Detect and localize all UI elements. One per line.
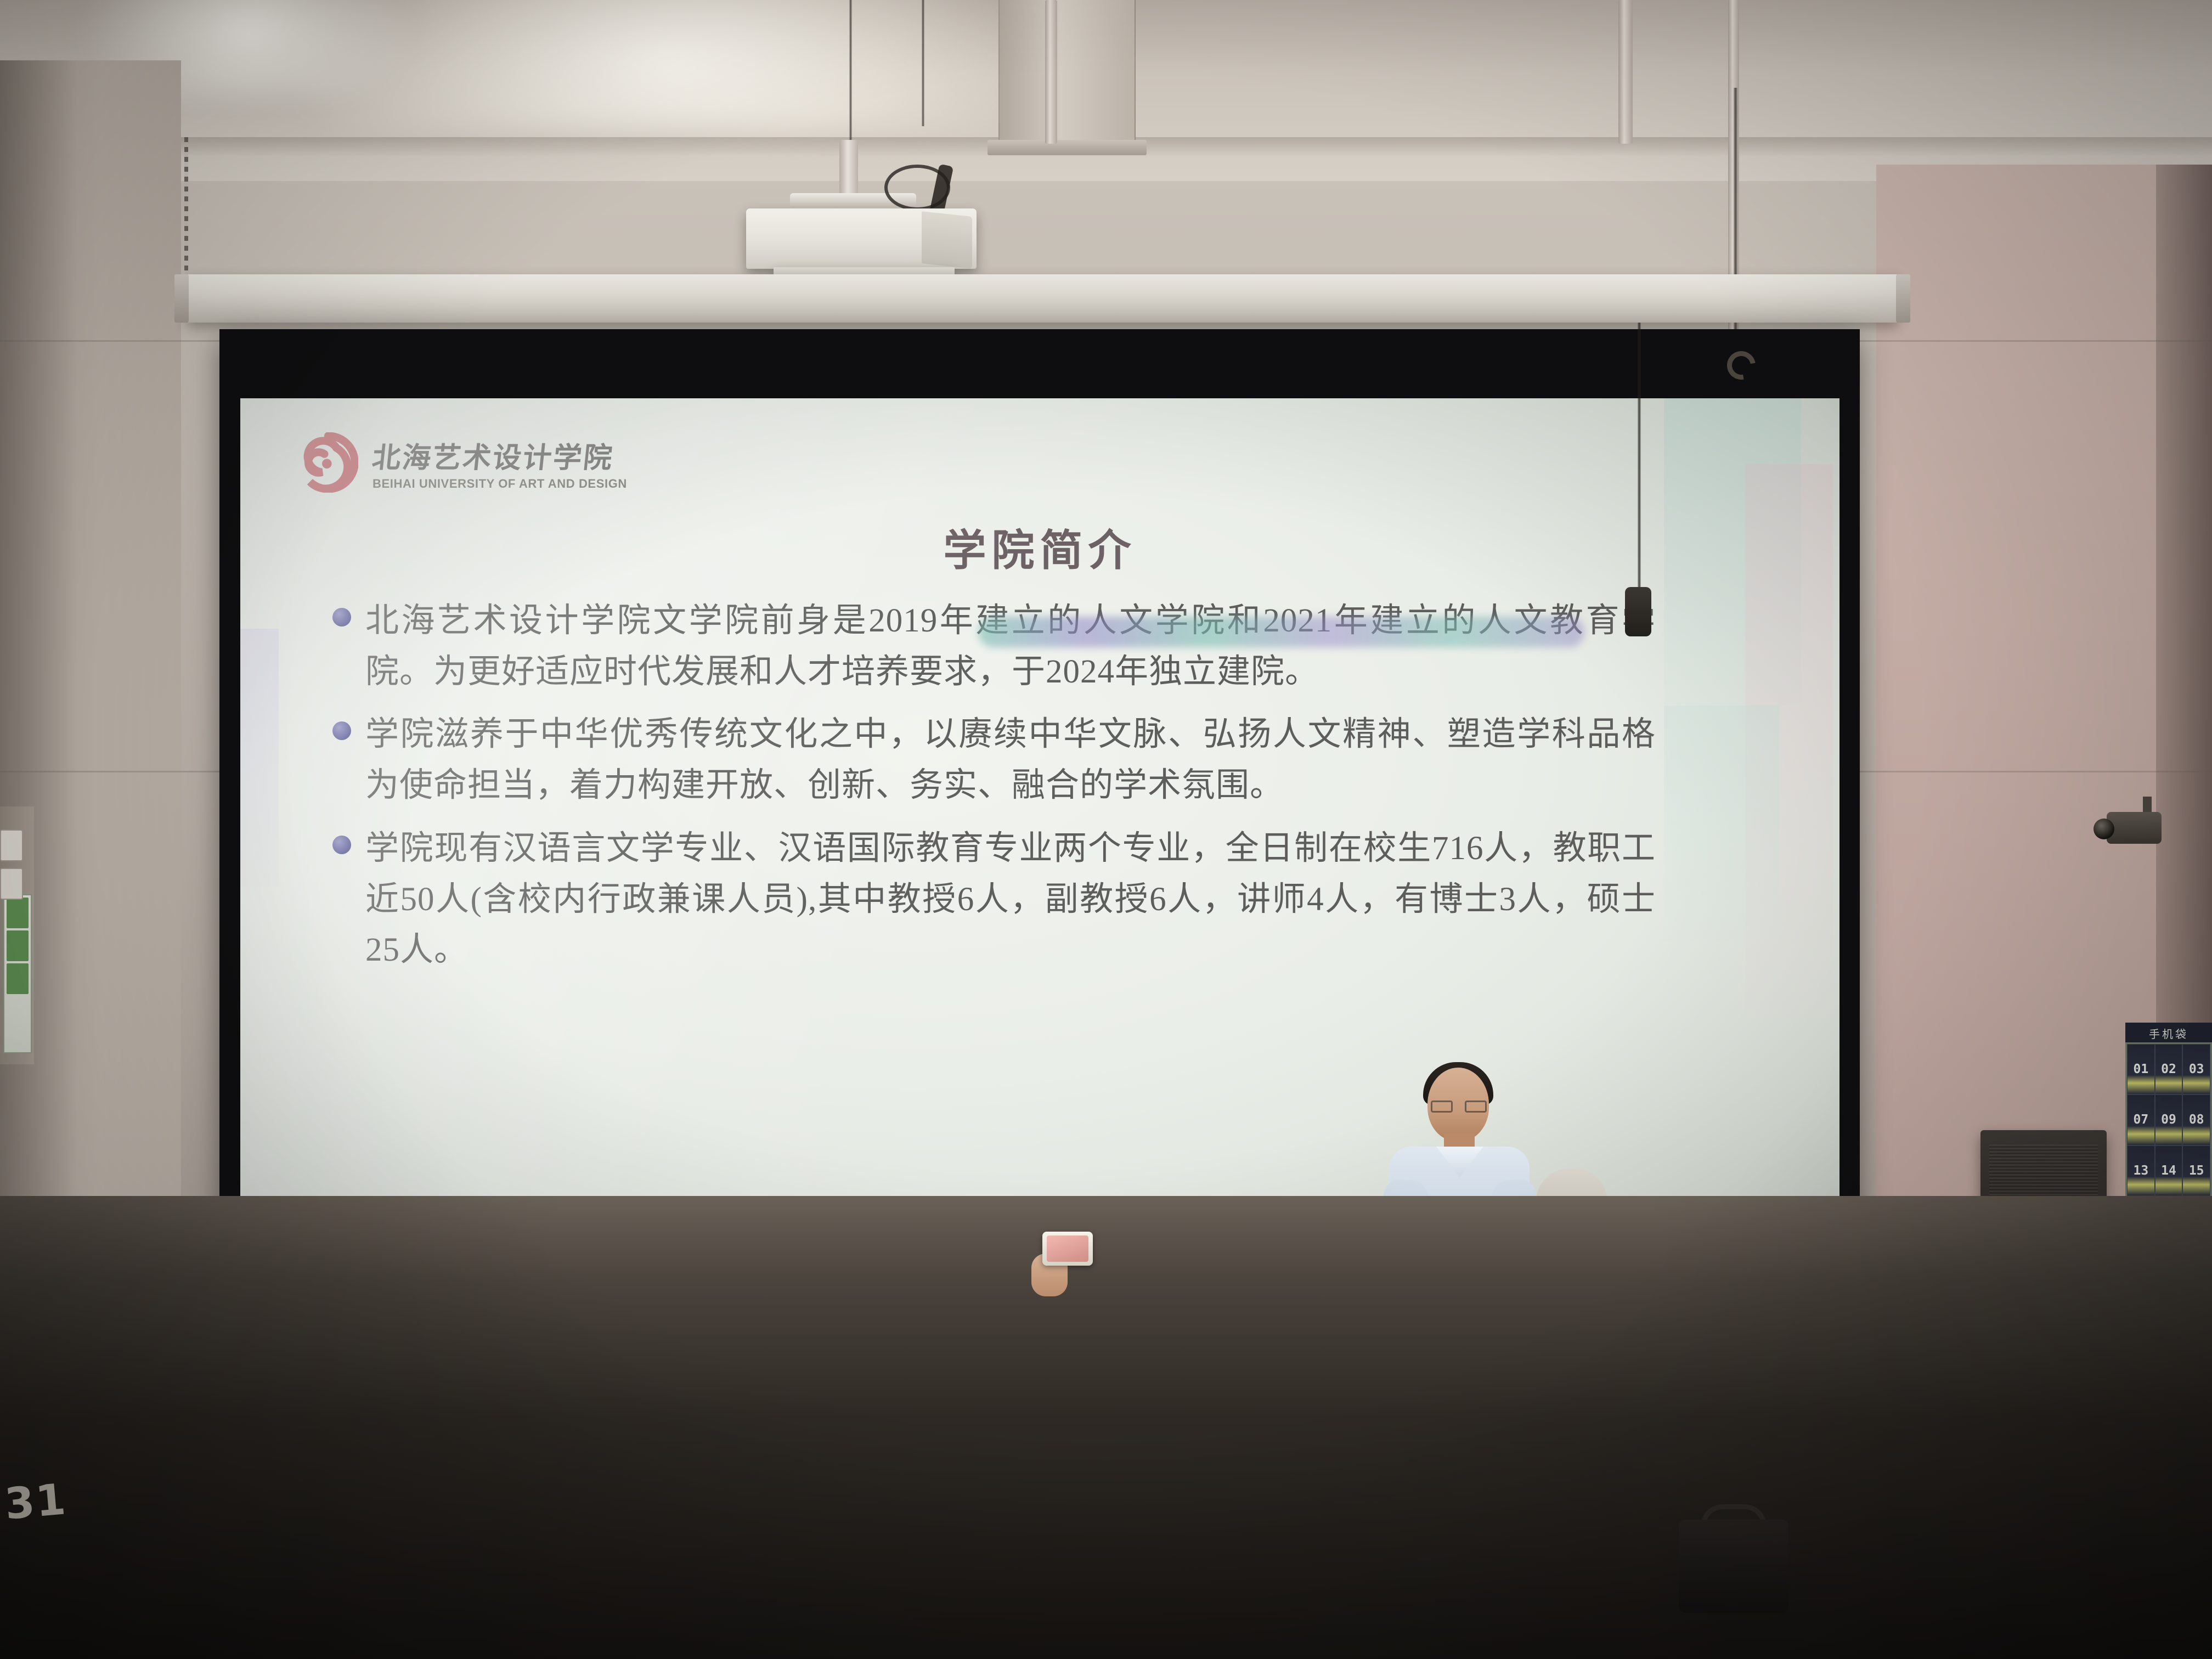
wall-socket[interactable] xyxy=(0,830,23,861)
wall-seam xyxy=(0,771,219,772)
phone-pocket-13[interactable]: 13 xyxy=(2127,1145,2155,1196)
phone-pocket-header: 手机袋 xyxy=(2125,1023,2212,1043)
phone-pocket-03[interactable]: 03 xyxy=(2182,1044,2210,1094)
logo-name-en: BEIHAI UNIVERSITY OF ART AND DESIGN xyxy=(373,477,627,491)
bullet-text: 北海艺术设计学院文学院前身是2019年建立的人文学院和2021年建立的人文教育学… xyxy=(365,596,1656,697)
presenter-glasses-icon xyxy=(1431,1101,1487,1113)
left-wall-shadow xyxy=(0,60,77,1256)
phone-pocket-09[interactable]: 09 xyxy=(2155,1094,2183,1145)
projector-power-cord xyxy=(849,0,852,143)
phone-pocket-14[interactable]: 14 xyxy=(2155,1145,2183,1196)
left-wall-notice-board xyxy=(3,894,32,1053)
ceiling-pipe xyxy=(1618,0,1633,144)
audience-phone-screen xyxy=(1047,1235,1088,1262)
screen-pull-handle xyxy=(1625,587,1651,636)
phone-pocket-07[interactable]: 07 xyxy=(2127,1094,2155,1145)
bullet-text: 学院现有汉语言文学专业、汉语国际教育专业两个专业，全日制在校生716人，教职工近… xyxy=(365,823,1656,976)
slide-bullet-list: 北海艺术设计学院文学院前身是2019年建立的人文学院和2021年建立的人文教育学… xyxy=(323,596,1656,988)
ceiling-pipe xyxy=(1045,0,1057,144)
phone-pocket-15[interactable]: 15 xyxy=(2182,1145,2210,1196)
slide-bullet-item: 北海艺术设计学院文学院前身是2019年建立的人文学院和2021年建立的人文教育学… xyxy=(323,596,1656,697)
wall-seam xyxy=(1860,771,2212,772)
slide: 北海艺术设计学院 BEIHAI UNIVERSITY OF ART AND DE… xyxy=(240,398,1839,1265)
screen-housing-end-left xyxy=(174,274,189,323)
projector-vent xyxy=(922,211,972,269)
bullet-dot-icon xyxy=(332,608,351,627)
screen-housing-end-right xyxy=(1896,274,1910,323)
lecture-hall-photo: EPSON 北海艺术设计学院 BEIHAI UNIVERSITY OF ART … xyxy=(0,0,2212,1659)
jersey-number-text: 31 xyxy=(3,1471,107,1545)
slide-title: 学院简介 xyxy=(240,516,1839,578)
bullet-text: 学院滋养于中华优秀传统文化之中，以赓续中华文脉、弘扬人文精神、塑造学科品格为使命… xyxy=(365,709,1656,811)
backpack-on-floor xyxy=(1679,1520,1788,1613)
wall-seam xyxy=(0,340,219,342)
projection-screen-surface: 北海艺术设计学院 BEIHAI UNIVERSITY OF ART AND DE… xyxy=(240,398,1839,1265)
phone-pocket-01[interactable]: 01 xyxy=(2127,1044,2155,1094)
security-camera xyxy=(2107,812,2162,844)
ceiling-duct-cap xyxy=(988,140,1147,155)
university-spiral-logo-icon xyxy=(298,432,358,493)
wall-seam xyxy=(1860,340,2212,342)
institution-logo: 北海艺术设计学院 BEIHAI UNIVERSITY OF ART AND DE… xyxy=(298,432,627,493)
slide-decoration-lavender xyxy=(240,629,279,887)
slide-bullet-item: 学院现有汉语言文学专业、汉语国际教育专业两个专业，全日制在校生716人，教职工近… xyxy=(323,823,1656,976)
slide-decoration-mint xyxy=(1664,706,1779,941)
audience-vignette xyxy=(0,1196,2212,1659)
audience-seating-area xyxy=(0,1196,2212,1659)
slide-bullet-item: 学院滋养于中华优秀传统文化之中，以赓续中华文脉、弘扬人文精神、塑造学科品格为使命… xyxy=(323,709,1656,811)
screen-housing-bar xyxy=(187,274,1898,323)
bullet-dot-icon xyxy=(332,836,351,854)
screen-pull-cord xyxy=(1638,323,1641,591)
ceiling-duct xyxy=(998,0,1136,148)
camera-lens-icon xyxy=(2093,819,2114,839)
projector-signal-cord xyxy=(922,0,924,126)
logo-name-cn: 北海艺术设计学院 xyxy=(370,435,629,476)
phone-pocket-08[interactable]: 08 xyxy=(2182,1094,2210,1145)
bullet-dot-icon xyxy=(332,721,351,740)
wall-socket[interactable] xyxy=(0,868,23,900)
phone-pocket-02[interactable]: 02 xyxy=(2155,1044,2183,1094)
logo-text-block: 北海艺术设计学院 BEIHAI UNIVERSITY OF ART AND DE… xyxy=(373,435,627,491)
